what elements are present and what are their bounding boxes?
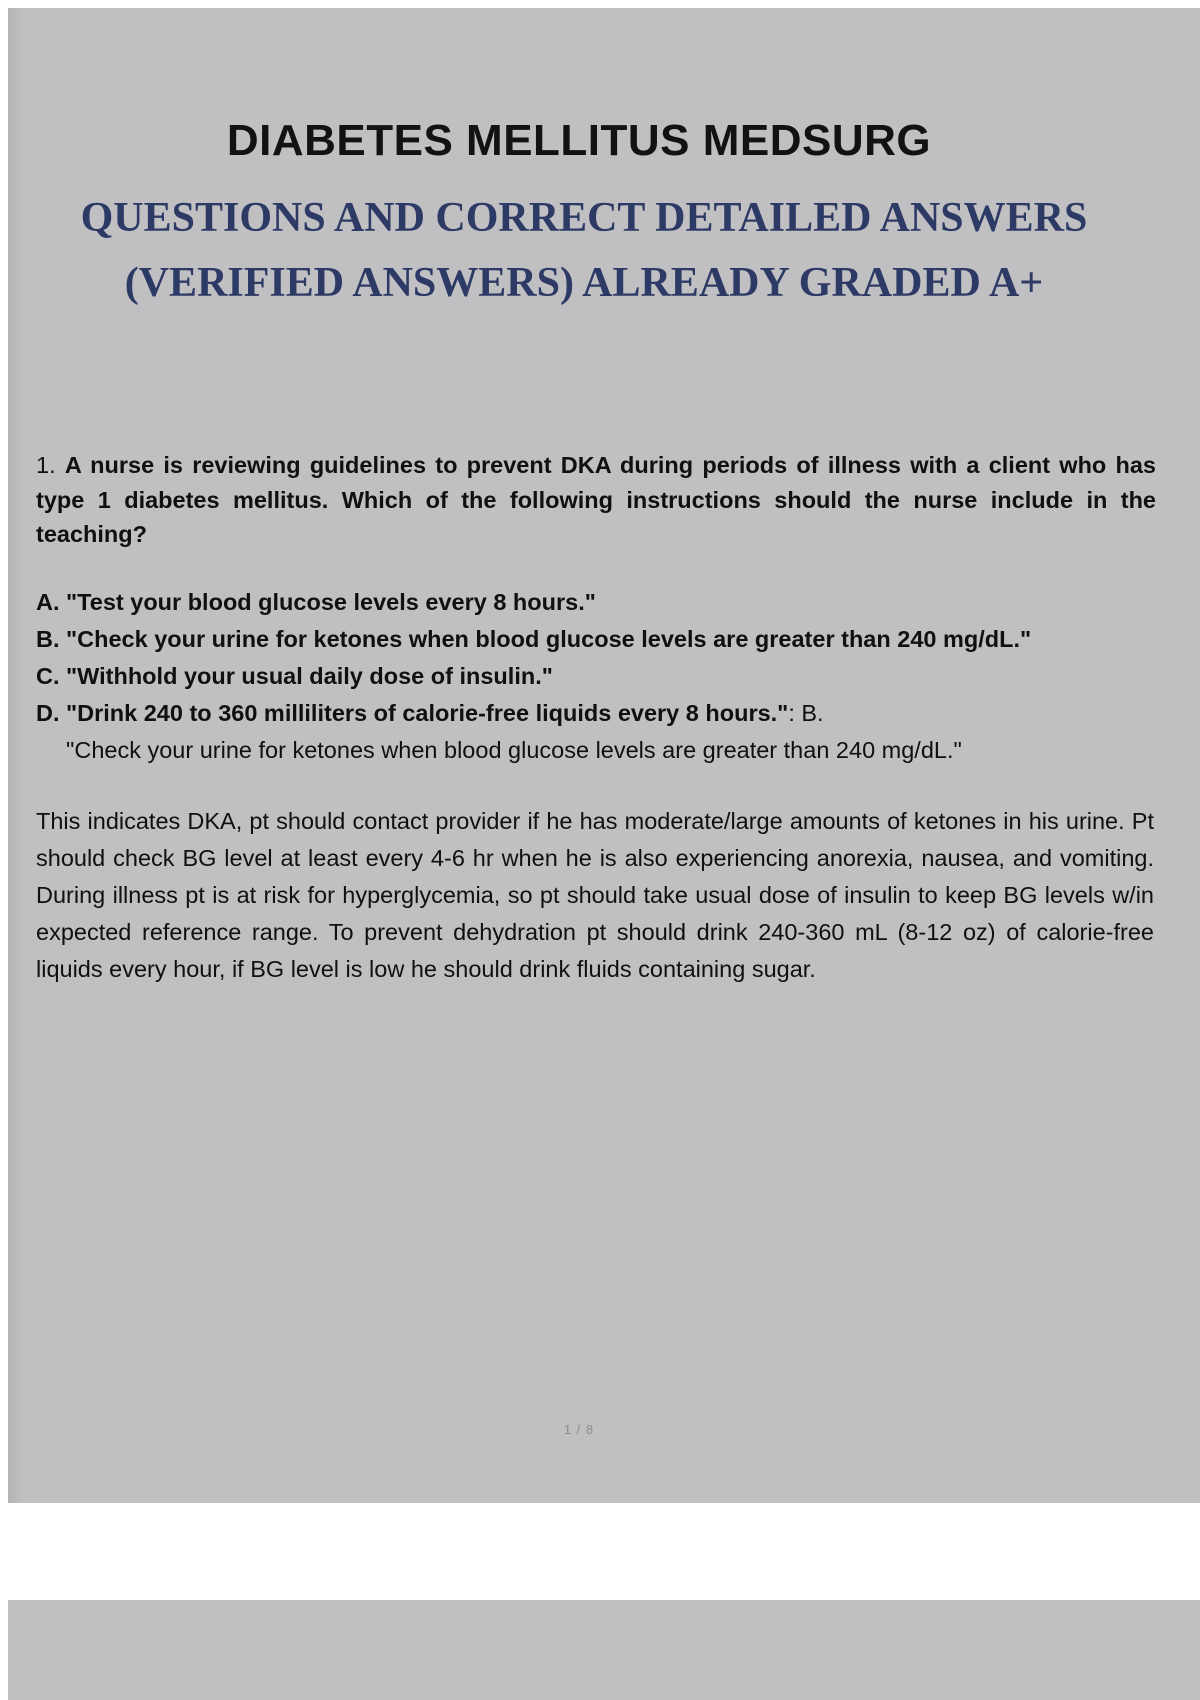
page-gap xyxy=(0,1503,1200,1600)
next-page-preview xyxy=(8,1600,1200,1700)
document-body: 1. A nurse is reviewing guidelines to pr… xyxy=(36,448,1200,988)
option-b: B. "Check your urine for ketones when bl… xyxy=(36,621,1166,658)
option-a: A. "Test your blood glucose levels every… xyxy=(36,584,1166,621)
answer-explanation: This indicates DKA, pt should contact pr… xyxy=(36,803,1154,988)
document-page: DIABETES MELLITUS MEDSURG QUESTIONS AND … xyxy=(8,8,1200,1503)
document-subtitle: QUESTIONS AND CORRECT DETAILED ANSWERS (… xyxy=(54,186,1114,316)
option-d-selected-answer: : B. xyxy=(788,700,823,726)
document-title: DIABETES MELLITUS MEDSURG xyxy=(8,116,1150,166)
document-page-viewport: DIABETES MELLITUS MEDSURG QUESTIONS AND … xyxy=(8,8,1200,1503)
question-block: 1. A nurse is reviewing guidelines to pr… xyxy=(36,448,1156,552)
question-number: 1. xyxy=(36,452,56,478)
page-number-footer: 1 / 8 xyxy=(8,1422,1150,1437)
option-d-text: "Drink 240 to 360 milliliters of calorie… xyxy=(66,695,1166,732)
option-d-letter: D. xyxy=(36,695,66,732)
option-a-letter: A. xyxy=(36,584,66,621)
option-d-bold-text: "Drink 240 to 360 milliliters of calorie… xyxy=(66,700,788,726)
answer-options: A. "Test your blood glucose levels every… xyxy=(36,584,1166,769)
answer-continuation: "Check your urine for ketones when blood… xyxy=(36,732,1166,769)
option-d: D. "Drink 240 to 360 milliliters of calo… xyxy=(36,695,1166,732)
option-a-text: "Test your blood glucose levels every 8 … xyxy=(66,584,1166,621)
option-b-text: "Check your urine for ketones when blood… xyxy=(66,621,1166,658)
option-b-letter: B. xyxy=(36,621,66,658)
option-c-text: "Withhold your usual daily dose of insul… xyxy=(66,658,1166,695)
option-c: C. "Withhold your usual daily dose of in… xyxy=(36,658,1166,695)
option-c-letter: C. xyxy=(36,658,66,695)
question-prompt: A nurse is reviewing guidelines to preve… xyxy=(36,452,1156,547)
